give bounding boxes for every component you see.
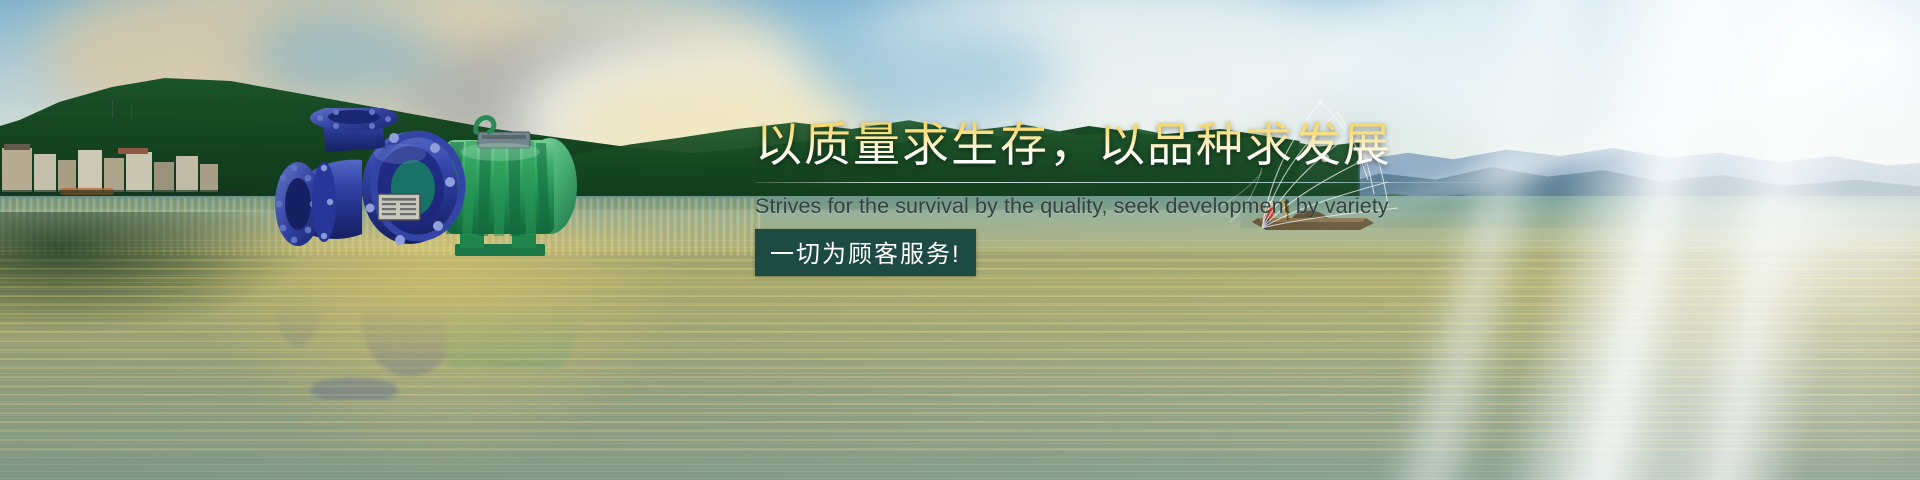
pump-water-reflection <box>250 280 580 400</box>
pump-nameplate <box>378 194 420 220</box>
village-building <box>34 154 56 192</box>
village-roof-red <box>118 148 148 154</box>
village-building <box>4 144 30 150</box>
headline-divider <box>755 182 1500 183</box>
village-building <box>154 162 174 192</box>
village-building <box>200 164 218 192</box>
village-building <box>2 148 32 192</box>
service-slogan-badge: 一切为顾客服务! <box>755 229 976 276</box>
village-building <box>126 152 152 192</box>
village-building <box>78 150 102 192</box>
suction-flange-bore <box>285 178 311 230</box>
centrifugal-pump-product <box>250 108 580 280</box>
cloud-blue-gap-left <box>250 10 440 100</box>
banner-text-block: 以质量求生存，以品种求发展 Strives for the survival b… <box>755 118 1555 276</box>
banner-headline: 以质量求生存，以品种求发展 <box>755 118 1555 173</box>
village-cluster <box>0 140 250 202</box>
lifting-eye <box>476 118 494 132</box>
motor-highlight <box>460 143 540 161</box>
motor-terminal-detail <box>482 135 526 139</box>
pump-highlight <box>374 144 426 164</box>
pump-illustration <box>250 108 580 280</box>
power-pylon <box>131 104 132 120</box>
banner-subtitle: Strives for the survival by the quality,… <box>755 194 1555 219</box>
power-pylon <box>112 100 113 118</box>
hero-banner: 以质量求生存，以品种求发展 Strives for the survival b… <box>0 0 1920 480</box>
village-building <box>176 156 198 192</box>
village-building <box>104 158 124 192</box>
